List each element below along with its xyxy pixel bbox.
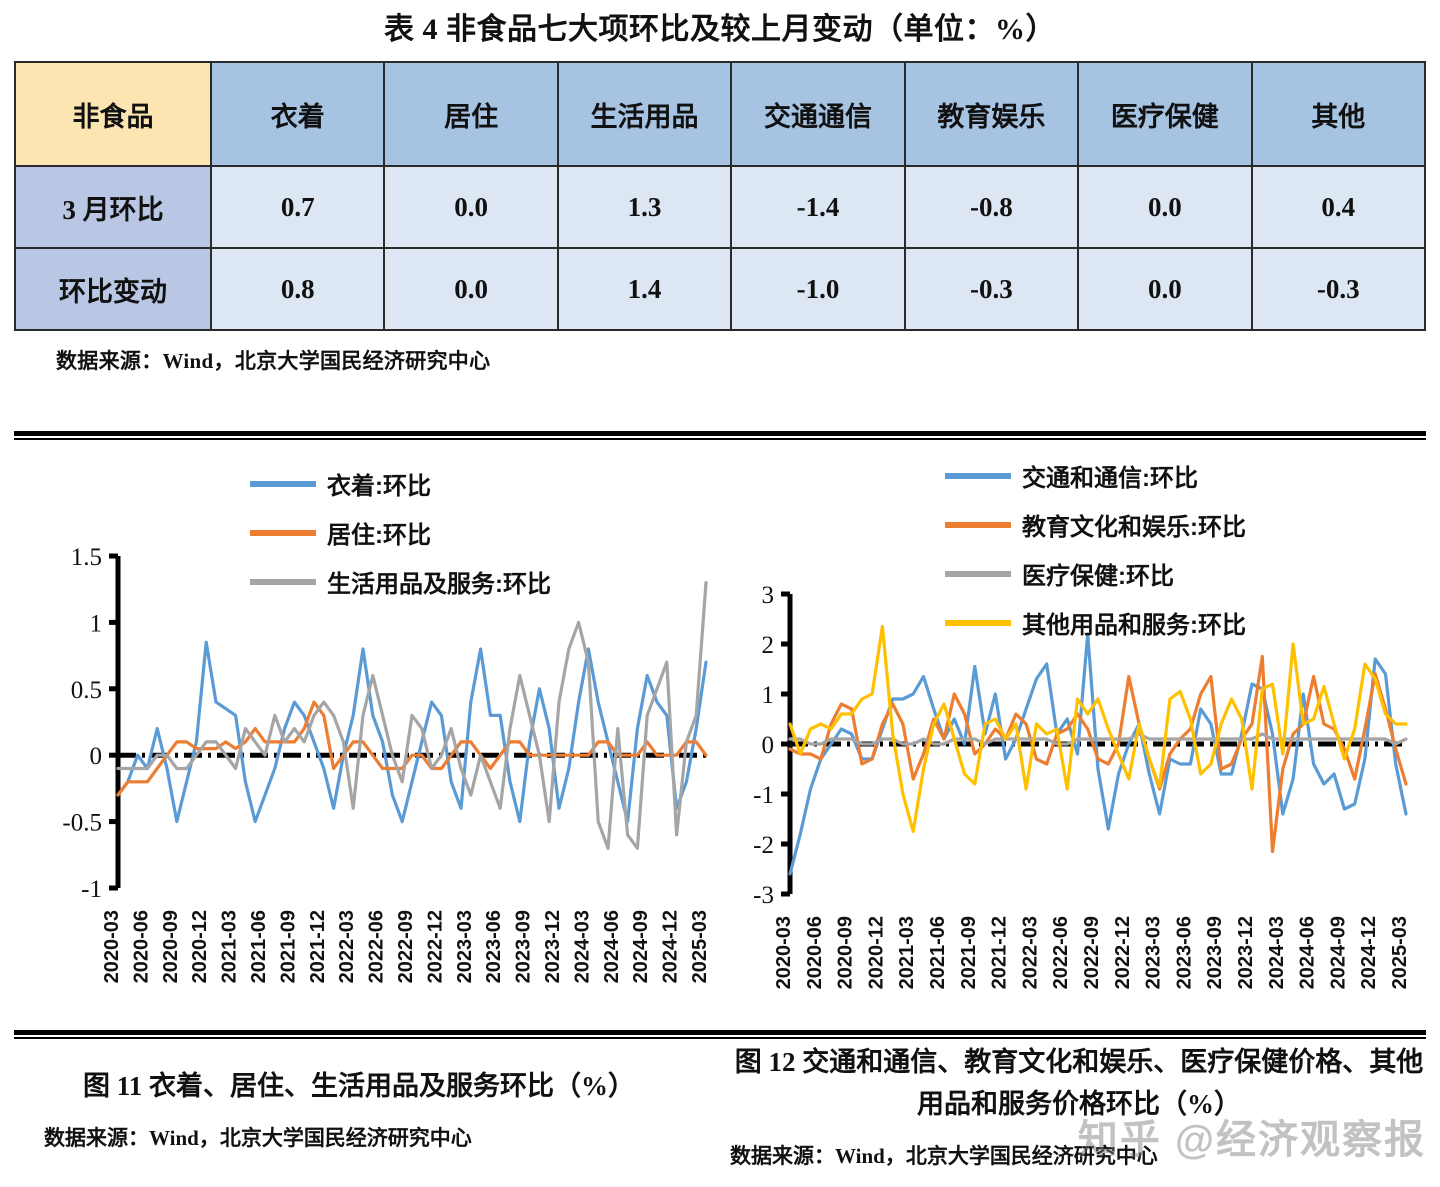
table-cell-r1c0: 0.8 (211, 248, 384, 330)
legend-label: 医疗保健:环比 (1022, 556, 1174, 591)
svg-text:2020-06: 2020-06 (130, 910, 152, 983)
table-cell-r1c2: 1.4 (558, 248, 731, 330)
svg-text:2025-03: 2025-03 (689, 910, 711, 983)
svg-text:2020-03: 2020-03 (101, 910, 123, 983)
svg-text:1: 1 (762, 682, 775, 709)
svg-text:2022-03: 2022-03 (336, 910, 358, 983)
svg-text:-1: -1 (753, 782, 774, 809)
svg-text:2020-09: 2020-09 (160, 910, 182, 983)
table-col-header-0: 衣着 (211, 62, 384, 166)
divider-bottom (14, 1030, 1426, 1039)
svg-text:2024-09: 2024-09 (630, 910, 652, 983)
svg-text:-3: -3 (753, 882, 774, 909)
legend-label: 生活用品及服务:环比 (327, 564, 551, 599)
divider-top (14, 431, 1426, 440)
caption-block-right: 图 12 交通和通信、教育文化和娱乐、医疗保健价格、其他用品和服务价格环比（%）… (718, 1040, 1440, 1170)
svg-text:2023-06: 2023-06 (1173, 916, 1195, 989)
table-cell-r1c5: 0.0 (1078, 248, 1251, 330)
table-corner-label: 非食品 (15, 62, 211, 166)
svg-text:-2: -2 (753, 832, 774, 859)
table-col-header-2: 生活用品 (558, 62, 731, 166)
table-cell-r1c4: -0.3 (905, 248, 1078, 330)
svg-text:2022-06: 2022-06 (1050, 916, 1072, 989)
chart-11-legend: 衣着:环比 居住:环比 生活用品及服务:环比 (250, 466, 551, 613)
svg-text:0: 0 (762, 732, 775, 759)
svg-text:2022-03: 2022-03 (1019, 916, 1041, 989)
svg-text:2020-03: 2020-03 (773, 916, 795, 989)
charts-region: 衣着:环比 居住:环比 生活用品及服务:环比 1.510.50-0.5-1202… (0, 446, 1440, 1026)
svg-text:2020-12: 2020-12 (189, 910, 211, 983)
table-row: 3 月环比 0.7 0.0 1.3 -1.4 -0.8 0.0 0.4 (15, 166, 1425, 248)
svg-text:-0.5: -0.5 (62, 810, 102, 837)
svg-text:2023-06: 2023-06 (483, 910, 505, 983)
table-row: 环比变动 0.8 0.0 1.4 -1.0 -0.3 0.0 -0.3 (15, 248, 1425, 330)
svg-text:2022-06: 2022-06 (366, 910, 388, 983)
svg-text:2024-06: 2024-06 (601, 910, 623, 983)
page-root: 表 4 非食品七大项环比及较上月变动（单位：%） 非食品 衣着 居住 生活用品 … (0, 0, 1440, 1187)
svg-text:2021-12: 2021-12 (307, 910, 329, 983)
figure-12-caption: 图 12 交通和通信、教育文化和娱乐、医疗保健价格、其他用品和服务价格环比（%） (718, 1040, 1440, 1126)
table-cell-r0c3: -1.4 (731, 166, 904, 248)
legend-item-jiaoyu[interactable]: 教育文化和娱乐:环比 (945, 507, 1246, 542)
svg-text:2021-09: 2021-09 (277, 910, 299, 983)
table-cell-r1c1: 0.0 (384, 248, 557, 330)
svg-text:2023-03: 2023-03 (454, 910, 476, 983)
table-cell-r1c3: -1.0 (731, 248, 904, 330)
table-cell-r0c6: 0.4 (1252, 166, 1425, 248)
svg-text:2024-12: 2024-12 (1358, 916, 1380, 989)
chart-figure-11: 衣着:环比 居住:环比 生活用品及服务:环比 1.510.50-0.5-1202… (0, 446, 730, 1026)
svg-text:2022-09: 2022-09 (395, 910, 417, 983)
legend-item-jiaotong[interactable]: 交通和通信:环比 (945, 458, 1246, 493)
svg-text:2023-09: 2023-09 (513, 910, 535, 983)
svg-text:2023-09: 2023-09 (1204, 916, 1226, 989)
svg-text:2022-12: 2022-12 (1112, 916, 1134, 989)
caption-block-left: 图 11 衣着、居住、生活用品及服务环比（%） 数据来源：Wind，北京大学国民… (0, 1040, 718, 1152)
svg-text:2021-06: 2021-06 (248, 910, 270, 983)
legend-item-yiliao[interactable]: 医疗保健:环比 (945, 556, 1246, 591)
legend-label: 交通和通信:环比 (1022, 458, 1198, 493)
legend-label: 教育文化和娱乐:环比 (1022, 507, 1246, 542)
table-col-header-5: 医疗保健 (1078, 62, 1251, 166)
svg-text:-1: -1 (81, 876, 102, 903)
svg-text:0.5: 0.5 (71, 677, 102, 704)
table-row-label-0: 3 月环比 (15, 166, 211, 248)
table-body: 非食品 衣着 居住 生活用品 交通通信 教育娱乐 医疗保健 其他 3 月环比 0… (15, 62, 1425, 330)
svg-text:2024-03: 2024-03 (1266, 916, 1288, 989)
table-cell-r1c6: -0.3 (1252, 248, 1425, 330)
table-cell-r0c4: -0.8 (905, 166, 1078, 248)
table-row-label-1: 环比变动 (15, 248, 211, 330)
table-col-header-4: 教育娱乐 (905, 62, 1078, 166)
table-col-header-1: 居住 (384, 62, 557, 166)
table-cell-r0c2: 1.3 (558, 166, 731, 248)
svg-text:2024-03: 2024-03 (571, 910, 593, 983)
svg-text:2021-03: 2021-03 (896, 916, 918, 989)
legend-line-icon (250, 579, 316, 585)
svg-text:1: 1 (90, 610, 103, 637)
svg-text:2024-12: 2024-12 (660, 910, 682, 983)
svg-text:3: 3 (762, 582, 775, 609)
svg-text:2022-12: 2022-12 (424, 910, 446, 983)
legend-line-icon (945, 473, 1011, 479)
svg-text:2022-09: 2022-09 (1081, 916, 1103, 989)
svg-text:0: 0 (90, 743, 103, 770)
table-cell-r0c5: 0.0 (1078, 166, 1251, 248)
figure-11-source: 数据来源：Wind，北京大学国民经济研究中心 (0, 1122, 718, 1152)
figure-11-caption: 图 11 衣着、居住、生活用品及服务环比（%） (0, 1040, 718, 1108)
legend-item-yizhuo[interactable]: 衣着:环比 (250, 466, 551, 501)
svg-text:2025-03: 2025-03 (1389, 916, 1411, 989)
table-title: 表 4 非食品七大项环比及较上月变动（单位：%） (0, 0, 1440, 49)
legend-line-icon (250, 530, 316, 536)
legend-label: 其他用品和服务:环比 (1022, 605, 1246, 640)
table-cell-r0c1: 0.0 (384, 166, 557, 248)
svg-text:2021-06: 2021-06 (927, 916, 949, 989)
svg-text:2021-12: 2021-12 (989, 916, 1011, 989)
svg-text:2: 2 (762, 632, 775, 659)
svg-text:2020-12: 2020-12 (865, 916, 887, 989)
svg-text:2024-06: 2024-06 (1297, 916, 1319, 989)
captions-region: 图 11 衣着、居住、生活用品及服务环比（%） 数据来源：Wind，北京大学国民… (0, 1040, 1440, 1187)
nonfood-table: 非食品 衣着 居住 生活用品 交通通信 教育娱乐 医疗保健 其他 3 月环比 0… (14, 61, 1426, 331)
svg-text:2023-12: 2023-12 (542, 910, 564, 983)
chart-12-legend: 交通和通信:环比 教育文化和娱乐:环比 医疗保健:环比 其他用品和服务:环比 (945, 458, 1246, 654)
legend-line-icon (250, 481, 316, 487)
svg-text:2021-03: 2021-03 (219, 910, 241, 983)
svg-text:2020-09: 2020-09 (835, 916, 857, 989)
legend-line-icon (945, 571, 1011, 577)
chart-figure-12: 交通和通信:环比 教育文化和娱乐:环比 医疗保健:环比 其他用品和服务:环比 3… (730, 446, 1440, 1026)
legend-item-juzhu[interactable]: 居住:环比 (250, 515, 551, 550)
table-header-row: 非食品 衣着 居住 生活用品 交通通信 教育娱乐 医疗保健 其他 (15, 62, 1425, 166)
legend-line-icon (945, 620, 1011, 626)
legend-item-shenghuoyongpin[interactable]: 生活用品及服务:环比 (250, 564, 551, 599)
svg-text:2023-03: 2023-03 (1143, 916, 1165, 989)
legend-label: 居住:环比 (327, 515, 431, 550)
table-col-header-6: 其他 (1252, 62, 1425, 166)
svg-text:2024-09: 2024-09 (1327, 916, 1349, 989)
legend-label: 衣着:环比 (327, 466, 431, 501)
table-source-note: 数据来源：Wind，北京大学国民经济研究中心 (56, 345, 1440, 375)
svg-text:2023-12: 2023-12 (1235, 916, 1257, 989)
legend-line-icon (945, 522, 1011, 528)
svg-text:2020-06: 2020-06 (804, 916, 826, 989)
table-col-header-3: 交通通信 (731, 62, 904, 166)
svg-text:2021-09: 2021-09 (958, 916, 980, 989)
legend-item-qita[interactable]: 其他用品和服务:环比 (945, 605, 1246, 640)
table-cell-r0c0: 0.7 (211, 166, 384, 248)
figure-12-source: 数据来源：Wind，北京大学国民经济研究中心 (718, 1140, 1440, 1170)
svg-text:1.5: 1.5 (71, 544, 102, 571)
